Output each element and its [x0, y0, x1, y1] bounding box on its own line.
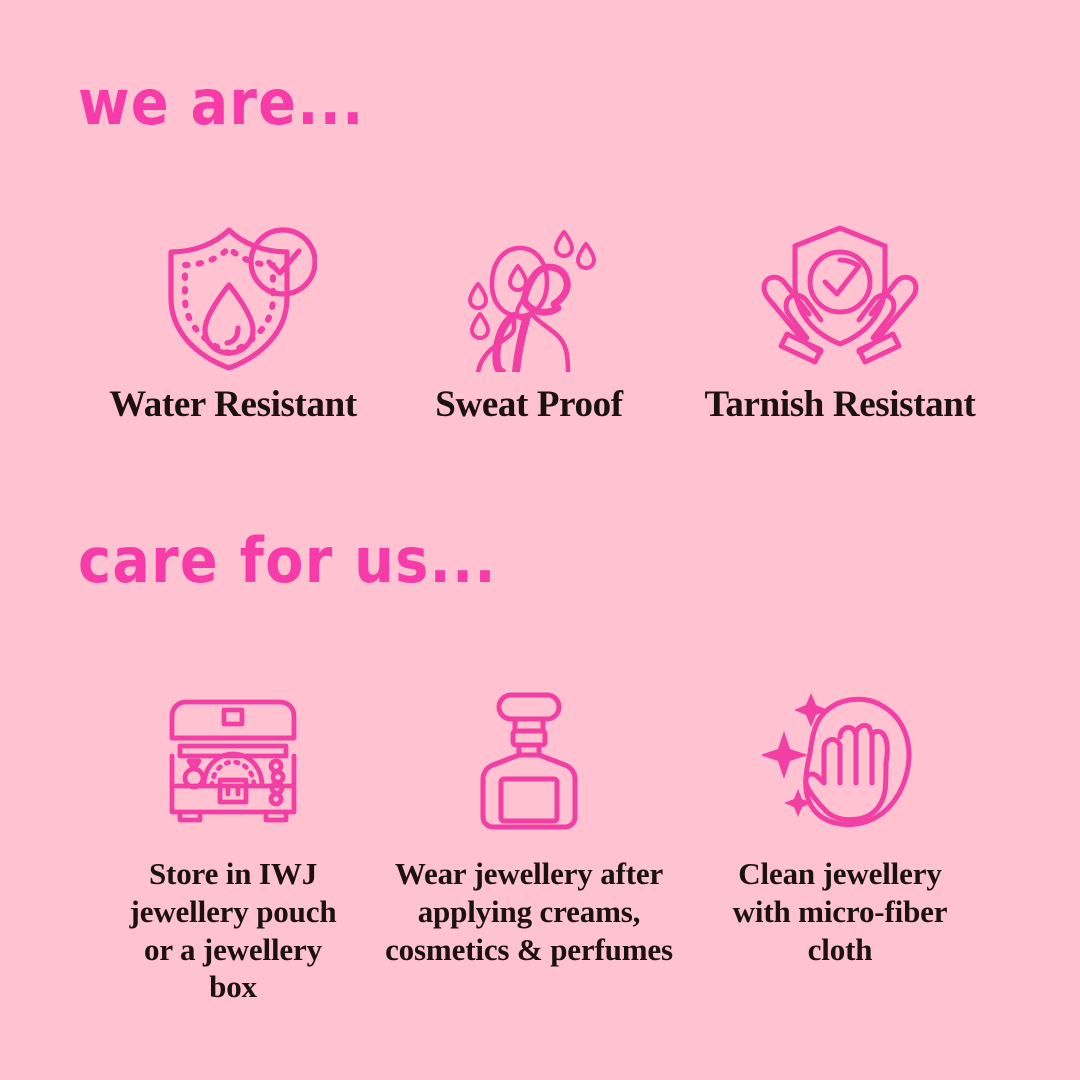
page-title-we-are: we are... [78, 72, 365, 134]
infographic-page: we are... [0, 0, 1080, 1080]
feature-label-tarnish-resistant: Tarnish Resistant [705, 386, 976, 425]
care-caption-clean: Clean jewellery with micro-fiber cloth [725, 855, 955, 968]
feature-label-water-resistant: Water Resistant [109, 386, 357, 425]
features-row-we-are: Water Resistant [0, 222, 1080, 425]
hands-holding-shield-check-icon [759, 222, 921, 372]
care-caption-wear: Wear jewellery after applying creams, co… [383, 855, 675, 968]
icon-container [759, 222, 921, 372]
care-item-clean: Clean jewellery with micro-fiber cloth [675, 685, 1005, 968]
page-title-care-for-us: care for us... [78, 530, 497, 592]
open-jewellery-box-icon [158, 694, 308, 828]
care-item-wear: Wear jewellery after applying creams, co… [383, 685, 675, 968]
icon-container [149, 222, 317, 372]
icon-container [762, 685, 918, 837]
care-item-store: Store in IWJ jewellery pouch or a jewell… [83, 685, 383, 1006]
feature-tarnish-resistant: Tarnish Resistant [675, 222, 1005, 425]
sweating-person-towel-icon [454, 222, 604, 372]
feature-label-sweat-proof: Sweat Proof [435, 386, 622, 425]
feature-sweat-proof: Sweat Proof [383, 222, 675, 425]
care-caption-store: Store in IWJ jewellery pouch or a jewell… [118, 855, 348, 1006]
icon-container [473, 685, 585, 837]
perfume-bottle-icon [473, 691, 585, 831]
features-row-care-for-us: Store in IWJ jewellery pouch or a jewell… [0, 685, 1080, 1006]
icon-container [454, 222, 604, 372]
hand-cloth-sparkle-icon [762, 691, 918, 831]
icon-container [158, 685, 308, 837]
feature-water-resistant: Water Resistant [83, 222, 383, 425]
water-drop-shield-check-icon [149, 222, 317, 372]
